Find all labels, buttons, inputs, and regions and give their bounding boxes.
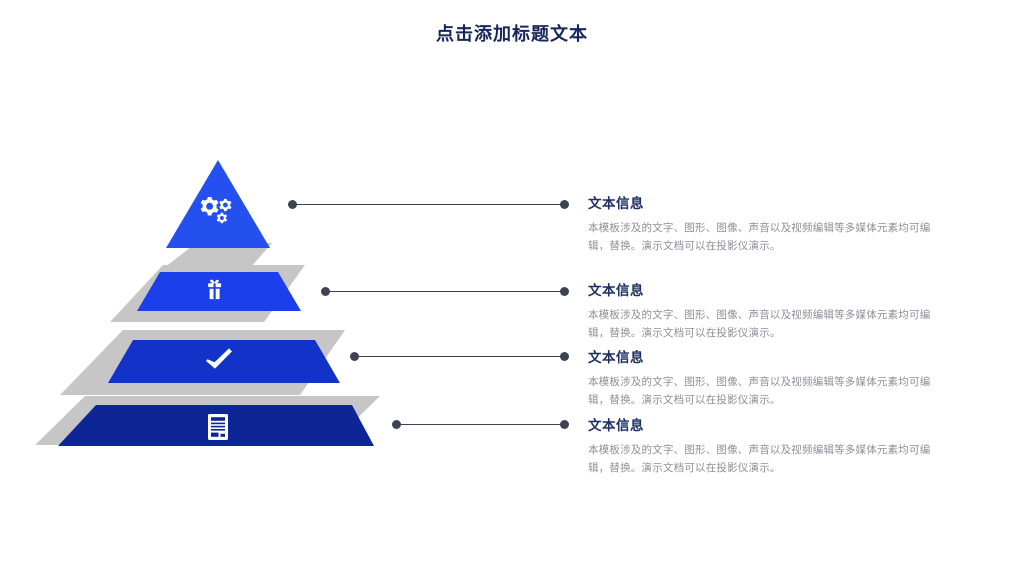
connector-dot-end-4 — [560, 420, 569, 429]
pyramid-tier-4 — [58, 405, 374, 446]
text-block-title-3: 文本信息 — [588, 346, 948, 366]
text-block-body-2: 本模板涉及的文字、图形、图像、声音以及视频编辑等多媒体元素均可编辑，替换。演示文… — [588, 306, 948, 343]
connector-line-3 — [350, 352, 569, 362]
connector-dot-end-2 — [560, 287, 569, 296]
connector-dot-end-1 — [560, 200, 569, 209]
slide-canvas: 点击添加标题文本 — [0, 0, 1024, 576]
connector-line-1 — [288, 200, 569, 210]
text-block-title-1: 文本信息 — [588, 192, 948, 212]
connector-line-4 — [392, 420, 569, 430]
pyramid-tier-2 — [137, 272, 301, 311]
text-block-body-1: 本模板涉及的文字、图形、图像、声音以及视频编辑等多媒体元素均可编辑，替换。演示文… — [588, 219, 948, 256]
text-block-2[interactable]: 文本信息 本模板涉及的文字、图形、图像、声音以及视频编辑等多媒体元素均可编辑，替… — [588, 279, 948, 343]
pyramid-tier-3 — [108, 340, 340, 383]
connector-dot-end-3 — [560, 352, 569, 361]
text-block-body-4: 本模板涉及的文字、图形、图像、声音以及视频编辑等多媒体元素均可编辑，替换。演示文… — [588, 441, 948, 478]
text-block-4[interactable]: 文本信息 本模板涉及的文字、图形、图像、声音以及视频编辑等多媒体元素均可编辑，替… — [588, 414, 948, 478]
tier-3-shape — [108, 340, 340, 383]
connector-stroke-2 — [325, 291, 565, 292]
connector-line-2 — [321, 287, 569, 297]
connector-stroke-3 — [354, 356, 565, 357]
pyramid-tier-1 — [166, 160, 270, 248]
text-block-1[interactable]: 文本信息 本模板涉及的文字、图形、图像、声音以及视频编辑等多媒体元素均可编辑，替… — [588, 192, 948, 256]
tier-1-shape — [166, 160, 270, 248]
text-block-title-4: 文本信息 — [588, 414, 948, 434]
text-block-3[interactable]: 文本信息 本模板涉及的文字、图形、图像、声音以及视频编辑等多媒体元素均可编辑，替… — [588, 346, 948, 410]
connector-stroke-1 — [292, 204, 565, 205]
text-block-title-2: 文本信息 — [588, 279, 948, 299]
text-block-body-3: 本模板涉及的文字、图形、图像、声音以及视频编辑等多媒体元素均可编辑，替换。演示文… — [588, 373, 948, 410]
connector-stroke-4 — [396, 424, 565, 425]
document-icon — [208, 414, 228, 440]
